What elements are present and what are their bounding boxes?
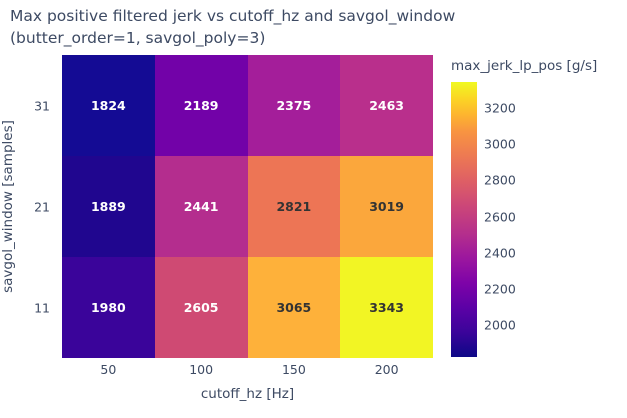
heatmap-cell-value: 2463 bbox=[369, 98, 404, 113]
heatmap-figure: Max positive filtered jerk vs cutoff_hz … bbox=[0, 0, 627, 418]
y-axis-tick-label: 31 bbox=[34, 98, 50, 113]
colorbar-tick-label: 3000 bbox=[484, 137, 516, 152]
heatmap-cell: 2821 bbox=[248, 156, 341, 257]
y-axis-tick-label: 21 bbox=[34, 199, 50, 214]
heatmap-cell: 1980 bbox=[62, 257, 155, 358]
heatmap-cell: 2441 bbox=[155, 156, 248, 257]
heatmap-cell-value: 1889 bbox=[91, 199, 126, 214]
y-axis-tick-label: 11 bbox=[34, 300, 50, 315]
heatmap-cell-value: 2375 bbox=[276, 98, 311, 113]
heatmap-cell-value: 2605 bbox=[184, 300, 219, 315]
chart-title: Max positive filtered jerk vs cutoff_hz … bbox=[10, 5, 620, 49]
heatmap-cell-value: 3065 bbox=[276, 300, 311, 315]
heatmap-cell-value: 2189 bbox=[184, 98, 219, 113]
colorbar-tick-label: 2000 bbox=[484, 318, 516, 333]
heatmap-cell: 2605 bbox=[155, 257, 248, 358]
heatmap-grid: 1824218923752463188924412821301919802605… bbox=[62, 55, 433, 358]
heatmap-cell-value: 1980 bbox=[91, 300, 126, 315]
colorbar-tick-label: 3200 bbox=[484, 100, 516, 115]
heatmap-cell-value: 3019 bbox=[369, 199, 404, 214]
heatmap-cell-value: 2441 bbox=[184, 199, 219, 214]
colorbar-tick-label: 2400 bbox=[484, 245, 516, 260]
x-axis-tick-label: 50 bbox=[62, 362, 155, 380]
heatmap-cell: 2375 bbox=[248, 55, 341, 156]
heatmap-cell: 3343 bbox=[340, 257, 433, 358]
y-axis-title: savgol_window [samples] bbox=[0, 55, 20, 358]
x-axis-title: cutoff_hz [Hz] bbox=[62, 386, 433, 402]
heatmap-cell: 2463 bbox=[340, 55, 433, 156]
heatmap-cell: 3065 bbox=[248, 257, 341, 358]
x-axis-tick-label: 150 bbox=[248, 362, 341, 380]
plot-area: 1824218923752463188924412821301919802605… bbox=[62, 55, 433, 358]
colorbar-tick-label: 2200 bbox=[484, 281, 516, 296]
x-axis-tick-label: 100 bbox=[155, 362, 248, 380]
heatmap-cell: 2189 bbox=[155, 55, 248, 156]
colorbar-tick-label: 2600 bbox=[484, 209, 516, 224]
heatmap-cell: 3019 bbox=[340, 156, 433, 257]
heatmap-cell-value: 2821 bbox=[276, 199, 311, 214]
heatmap-cell: 1889 bbox=[62, 156, 155, 257]
heatmap-cell-value: 3343 bbox=[369, 300, 404, 315]
colorbar-tick-labels: 3200300028002600240022002000 bbox=[481, 82, 541, 357]
heatmap-cell: 1824 bbox=[62, 55, 155, 156]
colorbar-tick-label: 2800 bbox=[484, 173, 516, 188]
x-axis-tick-labels: 50100150200 bbox=[62, 362, 433, 380]
heatmap-cell-value: 1824 bbox=[91, 98, 126, 113]
colorbar-title: max_jerk_lp_pos [g/s] bbox=[451, 58, 597, 74]
colorbar-gradient bbox=[451, 82, 477, 357]
x-axis-tick-label: 200 bbox=[340, 362, 433, 380]
